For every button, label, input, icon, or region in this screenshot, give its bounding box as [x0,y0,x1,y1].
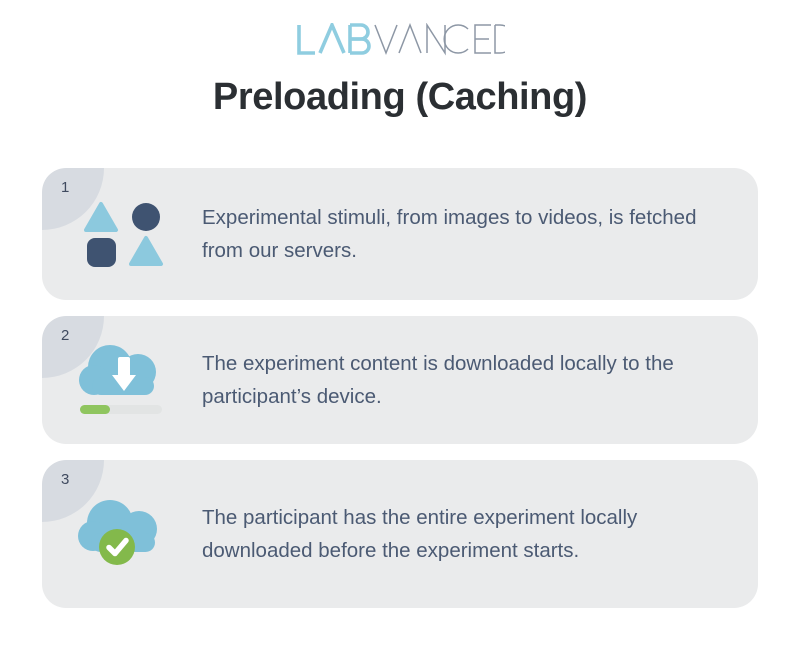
step-icon-1 [42,168,202,300]
shapes-grid-icon [81,198,167,270]
check-badge-icon [99,529,135,565]
labvanced-logo-mark [295,23,505,57]
step-text-2: The experiment content is downloaded loc… [202,347,758,413]
step-card-2: 2 The experiment conten [42,316,758,444]
step-card-3: 3 The participant has the entire experim… [42,460,758,608]
step-card-1: 1 Experimental stimuli, from images to v… [42,168,758,300]
step-icon-2 [42,316,202,444]
cloud-check-icon [70,491,174,577]
progress-fill [80,405,110,414]
cloud-shape [79,345,156,395]
rounded-square-dark-navy-icon [87,238,116,267]
step-text-3: The participant has the entire experimen… [202,501,758,567]
step-icon-3 [42,460,202,608]
cloud-download-icon [72,337,176,423]
step-text-1: Experimental stimuli, from images to vid… [202,201,758,267]
steps-list: 1 Experimental stimuli, from images to v… [42,168,758,608]
brand-logo [0,0,800,62]
circle-dark-navy-icon [132,203,160,231]
page-title: Preloading (Caching) [0,76,800,119]
